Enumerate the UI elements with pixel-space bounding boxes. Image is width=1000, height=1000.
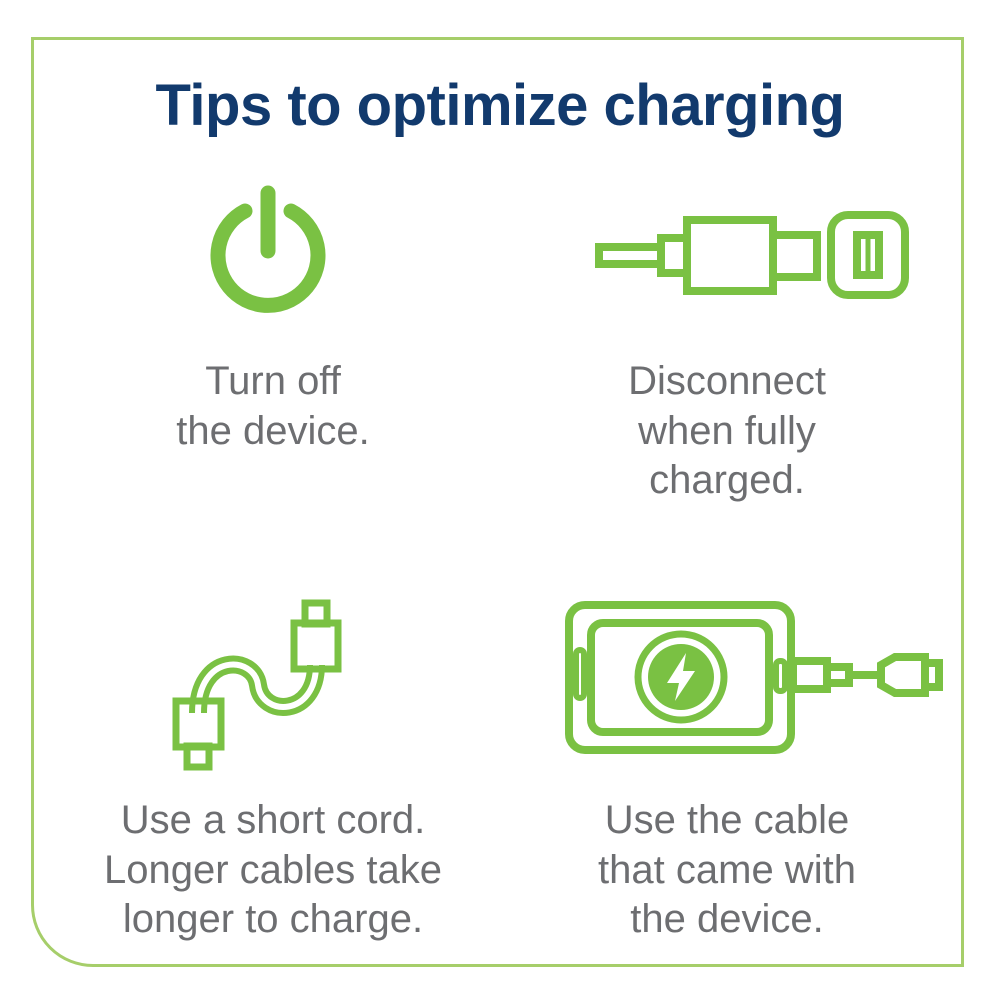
usb-plug-disconnected-icon [595, 175, 875, 335]
short-usb-cable-icon [166, 582, 356, 772]
tip-caption: Disconnect when fully charged. [628, 357, 826, 506]
phone-charging-cable-icon [563, 582, 943, 772]
power-button-icon [204, 175, 332, 335]
tip-caption: Use the cable that came with the device. [598, 796, 856, 945]
tip-caption: Use a short cord. Longer cables take lon… [104, 796, 442, 945]
tips-grid: Turn off the device. [46, 175, 954, 945]
tip-turn-off-device: Turn off the device. [46, 175, 500, 549]
tip-use-short-cord: Use a short cord. Longer cables take lon… [46, 549, 500, 945]
tip-disconnect-when-charged: Disconnect when fully charged. [500, 175, 954, 549]
tip-use-original-cable: Use the cable that came with the device. [500, 549, 954, 945]
page-title: Tips to optimize charging [0, 76, 1000, 137]
infographic-canvas: Tips to optimize charging Turn off the d… [0, 0, 1000, 1000]
tip-caption: Turn off the device. [176, 357, 369, 456]
